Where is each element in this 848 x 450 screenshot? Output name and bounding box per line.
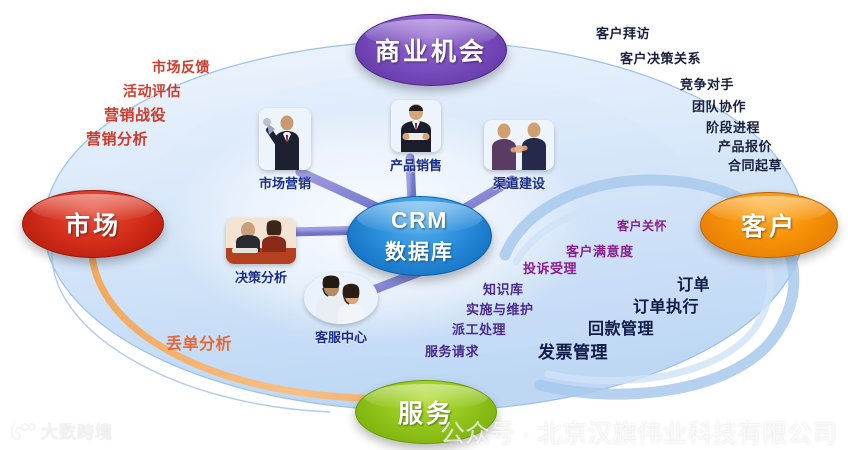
pillar-customer[interactable]: 客户 <box>700 192 838 258</box>
opportunity-item: 竞争对手 <box>680 78 734 91</box>
role-node-service-center[interactable]: 客服中心 <box>296 272 386 346</box>
dashukuajing-logo-icon <box>10 421 36 441</box>
channel-building-photo <box>484 120 554 170</box>
role-node-decision-analysis[interactable]: 决策分析 <box>218 218 304 286</box>
opportunity-item: 合同起草 <box>728 159 782 172</box>
service-center-photo <box>304 272 378 324</box>
role-node-marketing[interactable]: 市场营销 <box>246 108 324 192</box>
opportunity-item: 阶段进程 <box>706 121 760 134</box>
marketing-photo <box>259 108 311 170</box>
account-watermark: 公众号 · 北京汉旗伟业科技有限公司 <box>440 414 837 450</box>
service-item: 知识库 <box>483 283 524 296</box>
order-item: 订单 <box>677 278 710 294</box>
role-node-channel-building[interactable]: 渠道建设 <box>476 120 562 192</box>
megaphone-man-icon <box>259 108 311 170</box>
opportunity-item: 客户拜访 <box>596 27 650 40</box>
pillar-market-label: 市场 <box>65 206 121 242</box>
service-item: 实施与维护 <box>466 303 534 316</box>
service-item: 客户关怀 <box>617 220 667 232</box>
handshake-people-icon <box>484 120 554 170</box>
opportunity-item: 团队协作 <box>692 100 746 113</box>
service-item: 投诉受理 <box>523 262 577 275</box>
order-item: 回款管理 <box>588 322 654 338</box>
call-center-agents-icon <box>304 272 378 324</box>
salesman-icon <box>391 100 441 152</box>
decision-analysis-photo <box>226 218 296 264</box>
crm-label-line2: 数据库 <box>385 236 454 266</box>
opportunity-item: 产品报价 <box>718 140 772 153</box>
brand-watermark-text: 大数跨境 <box>41 418 113 443</box>
service-item: 客户满意度 <box>566 245 634 258</box>
diagram-canvas: 商业机会 市场 客户 服务 CRM 数据库 市场营销 <box>0 0 848 446</box>
order-item: 发票管理 <box>538 344 608 361</box>
crm-database-node[interactable]: CRM 数据库 <box>347 196 492 276</box>
service-item: 派工处理 <box>452 323 506 336</box>
pillar-opportunity[interactable]: 商业机会 <box>355 14 507 86</box>
order-item: 订单执行 <box>633 300 699 316</box>
market-item: 营销分析 <box>86 132 148 147</box>
market-item: 营销战役 <box>104 108 166 123</box>
market-item: 活动评估 <box>123 84 181 98</box>
role-node-decision-analysis-label: 决策分析 <box>218 267 304 286</box>
market-item: 市场反馈 <box>152 60 210 74</box>
role-node-service-center-label: 客服中心 <box>296 327 386 346</box>
pillar-market[interactable]: 市场 <box>22 190 164 258</box>
pillar-opportunity-label: 商业机会 <box>375 32 487 68</box>
role-node-product-sales-label: 产品销售 <box>378 155 454 174</box>
role-node-marketing-label: 市场营销 <box>246 173 324 192</box>
brand-watermark: 大数跨境 <box>10 418 113 443</box>
pillar-customer-label: 客户 <box>741 207 797 243</box>
role-node-channel-building-label: 渠道建设 <box>476 173 562 192</box>
meeting-people-icon <box>226 218 296 264</box>
crm-label-line1: CRM <box>391 207 448 234</box>
service-item: 服务请求 <box>425 345 479 358</box>
opportunity-item: 客户决策关系 <box>620 52 701 65</box>
product-sales-photo <box>391 100 441 152</box>
role-node-product-sales[interactable]: 产品销售 <box>378 100 454 174</box>
lost-order-analysis-label: 丢单分析 <box>166 337 232 353</box>
